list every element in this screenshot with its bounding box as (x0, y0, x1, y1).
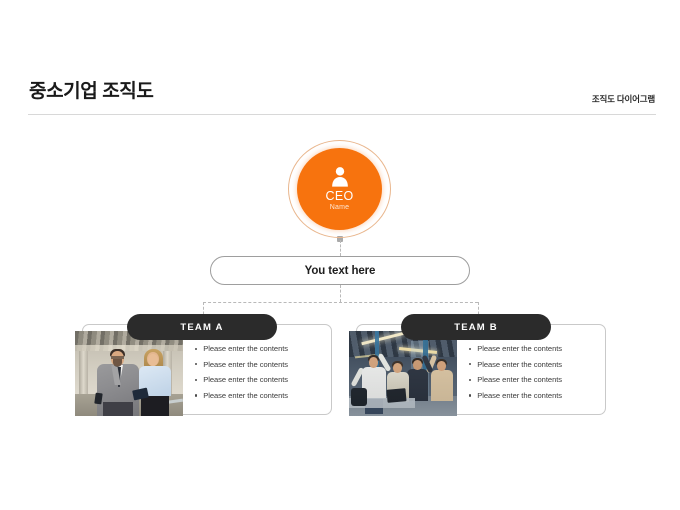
team-b-bullet-list: Please enter the contents Please enter t… (469, 345, 562, 407)
list-item: Please enter the contents (195, 345, 288, 353)
middle-node-textbox[interactable]: You text here (210, 256, 470, 285)
team-b-header-pill[interactable]: TEAM B (401, 314, 551, 340)
bullet-dot-icon (469, 363, 471, 365)
team-a-bullet-list: Please enter the contents Please enter t… (195, 345, 288, 407)
bullet-dot-icon (195, 379, 197, 381)
list-item-label: Please enter the contents (477, 392, 562, 400)
team-card-b[interactable]: TEAM B Please enter the contents Please … (356, 324, 606, 415)
page-title: 중소기업 조직도 (29, 82, 153, 101)
header-subtitle: 조직도 다이어그램 (592, 93, 655, 105)
connector-ceo-to-textbox (340, 240, 341, 256)
ceo-role-label: CEO (326, 190, 354, 203)
team-card-a[interactable]: TEAM A Please enter the contents Please … (82, 324, 332, 415)
bullet-dot-icon (195, 348, 197, 350)
team-a-title: TEAM A (180, 322, 223, 333)
team-b-title: TEAM B (454, 322, 498, 333)
team-a-header-pill[interactable]: TEAM A (127, 314, 277, 340)
list-item-label: Please enter the contents (203, 392, 288, 400)
list-item: Please enter the contents (469, 392, 562, 400)
list-item: Please enter the contents (195, 392, 288, 400)
list-item-label: Please enter the contents (477, 376, 562, 384)
connector-horizontal-spine (203, 302, 478, 303)
ceo-name-label: Name (330, 204, 349, 212)
person-icon (329, 165, 351, 188)
list-item-label: Please enter the contents (203, 345, 288, 353)
header-divider (28, 114, 656, 115)
slide-header: 중소기업 조직도 조직도 다이어그램 (0, 0, 680, 118)
connector-textbox-to-spine (340, 285, 341, 302)
list-item: Please enter the contents (469, 361, 562, 369)
list-item-label: Please enter the contents (477, 345, 562, 353)
bullet-dot-icon (195, 394, 197, 396)
list-item-label: Please enter the contents (477, 361, 562, 369)
list-item-label: Please enter the contents (203, 376, 288, 384)
list-item: Please enter the contents (469, 376, 562, 384)
team-a-photo (75, 331, 183, 416)
list-item: Please enter the contents (195, 376, 288, 384)
middle-node-label: You text here (305, 265, 376, 277)
bullet-dot-icon (469, 379, 471, 381)
ceo-node[interactable]: CEO Name (288, 140, 393, 240)
bullet-dot-icon (469, 348, 471, 350)
list-item-label: Please enter the contents (203, 361, 288, 369)
list-item: Please enter the contents (469, 345, 562, 353)
ceo-circle[interactable]: CEO Name (297, 148, 382, 230)
list-item: Please enter the contents (195, 361, 288, 369)
bullet-dot-icon (469, 394, 471, 396)
team-b-photo (349, 331, 457, 416)
bullet-dot-icon (195, 363, 197, 365)
